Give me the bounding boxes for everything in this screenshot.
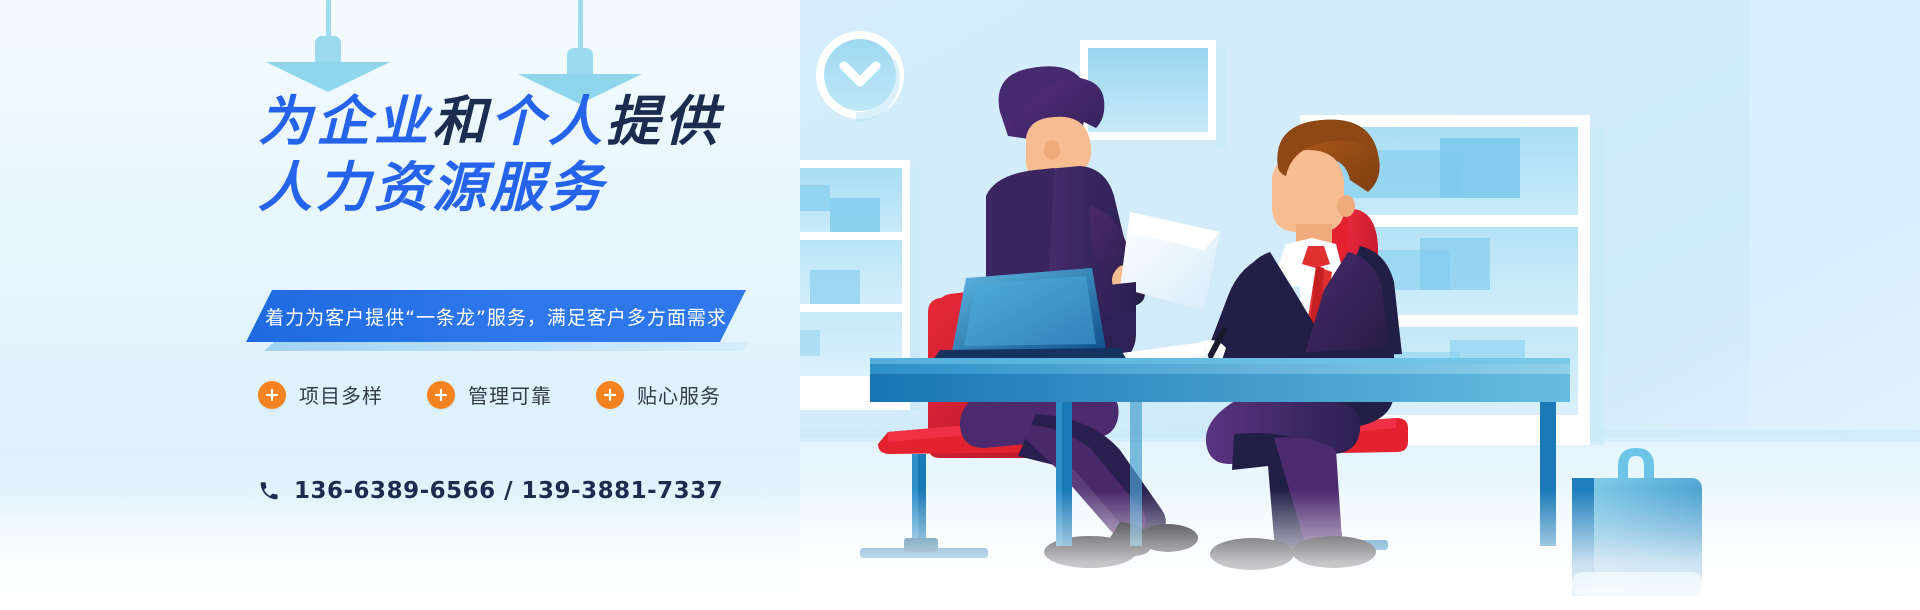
hr-service-banner: 为企业和个人提供 人力资源服务 着力为客户提供“一条龙”服务，满足客户多方面需求… <box>0 0 1920 610</box>
plus-icon <box>258 381 286 409</box>
plus-icon <box>427 381 455 409</box>
feature-label: 管理可靠 <box>468 380 552 409</box>
subtitle-text: 着力为客户提供“一条龙”服务，满足客户多方面需求 <box>246 290 746 342</box>
plus-icon <box>596 381 624 409</box>
headline-line-1: 为企业和个人提供 <box>258 95 722 149</box>
headline-seg-1: 为企业 <box>258 90 432 153</box>
feature-item[interactable]: 管理可靠 <box>427 380 552 409</box>
phone-icon <box>258 480 280 502</box>
headline-line-2: 人力资源服务 <box>258 161 722 215</box>
headline-seg-3: 个人 <box>490 90 606 153</box>
lamp-neck <box>567 48 593 76</box>
feature-label: 贴心服务 <box>637 380 721 409</box>
feature-list: 项目多样 管理可靠 贴心服务 <box>258 380 721 409</box>
feature-label: 项目多样 <box>299 380 383 409</box>
phone-number: 136-6389-6566 / 139-3881-7337 <box>294 478 723 504</box>
lamp-neck <box>315 36 341 64</box>
page-title: 为企业和个人提供 人力资源服务 <box>258 95 722 215</box>
headline-seg-4: 提供 <box>606 90 722 153</box>
feature-item[interactable]: 贴心服务 <box>596 380 721 409</box>
contact-phone[interactable]: 136-6389-6566 / 139-3881-7337 <box>258 478 723 504</box>
lamp-shade <box>266 62 390 92</box>
bottom-fade <box>0 490 1920 610</box>
subtitle-ribbon: 着力为客户提供“一条龙”服务，满足客户多方面需求 <box>246 290 746 342</box>
lamp-cord <box>326 0 331 38</box>
feature-item[interactable]: 项目多样 <box>258 380 383 409</box>
ribbon-shadow <box>252 342 750 351</box>
lamp-cord <box>578 0 583 50</box>
headline-seg-2: 和 <box>432 90 490 153</box>
